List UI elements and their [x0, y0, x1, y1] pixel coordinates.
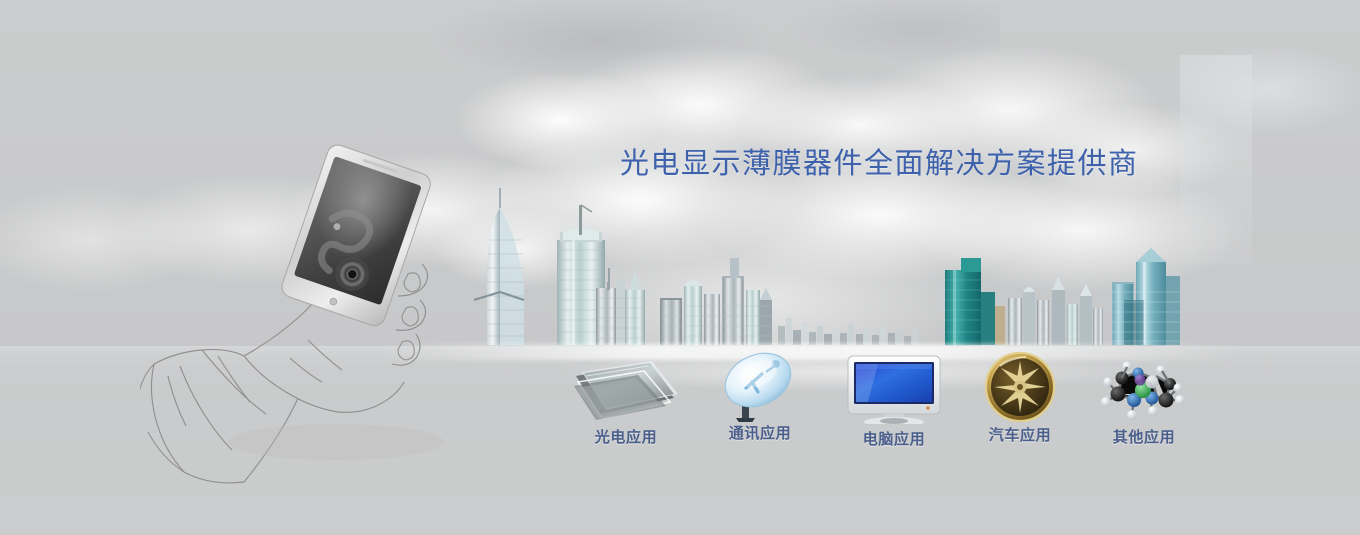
app-label: 通讯应用 — [700, 422, 820, 443]
app-item-computer[interactable]: 电脑应用 — [834, 354, 954, 449]
alloy-wheel-icon — [960, 350, 1080, 420]
app-label: 电脑应用 — [834, 428, 954, 449]
app-item-automotive[interactable]: 汽车应用 — [960, 350, 1080, 445]
lcd-monitor-icon — [834, 354, 954, 424]
satellite-dish-icon — [700, 348, 820, 418]
app-label: 汽车应用 — [960, 424, 1080, 445]
page-title: 光电显示薄膜器件全面解决方案提供商 — [620, 140, 1139, 182]
app-label: 其他应用 — [1084, 426, 1204, 447]
glass-film-panels-icon — [566, 352, 686, 422]
molecule-model-icon — [1084, 352, 1204, 422]
app-label: 光电应用 — [566, 426, 686, 447]
teal-tower — [945, 258, 1005, 345]
fingertips — [398, 273, 420, 360]
hero-banner: 光电显示薄膜器件全面解决方案提供商 — [0, 0, 1360, 535]
skyline-cluster-right — [1008, 276, 1103, 345]
application-categories: 光电应用 — [560, 352, 1210, 467]
low-rise-band — [778, 318, 918, 345]
app-item-communication[interactable]: 通讯应用 — [700, 348, 820, 443]
sleeve-cuff — [140, 364, 184, 472]
app-item-optoelectronic[interactable]: 光电应用 — [566, 352, 686, 447]
app-item-other[interactable]: 其他应用 — [1084, 352, 1204, 447]
smartphone — [279, 142, 433, 328]
cyan-towers — [1112, 248, 1180, 345]
skyline-cluster-center — [660, 258, 772, 345]
hand-with-phone-illustration — [140, 120, 480, 490]
sail-tower — [474, 188, 524, 345]
